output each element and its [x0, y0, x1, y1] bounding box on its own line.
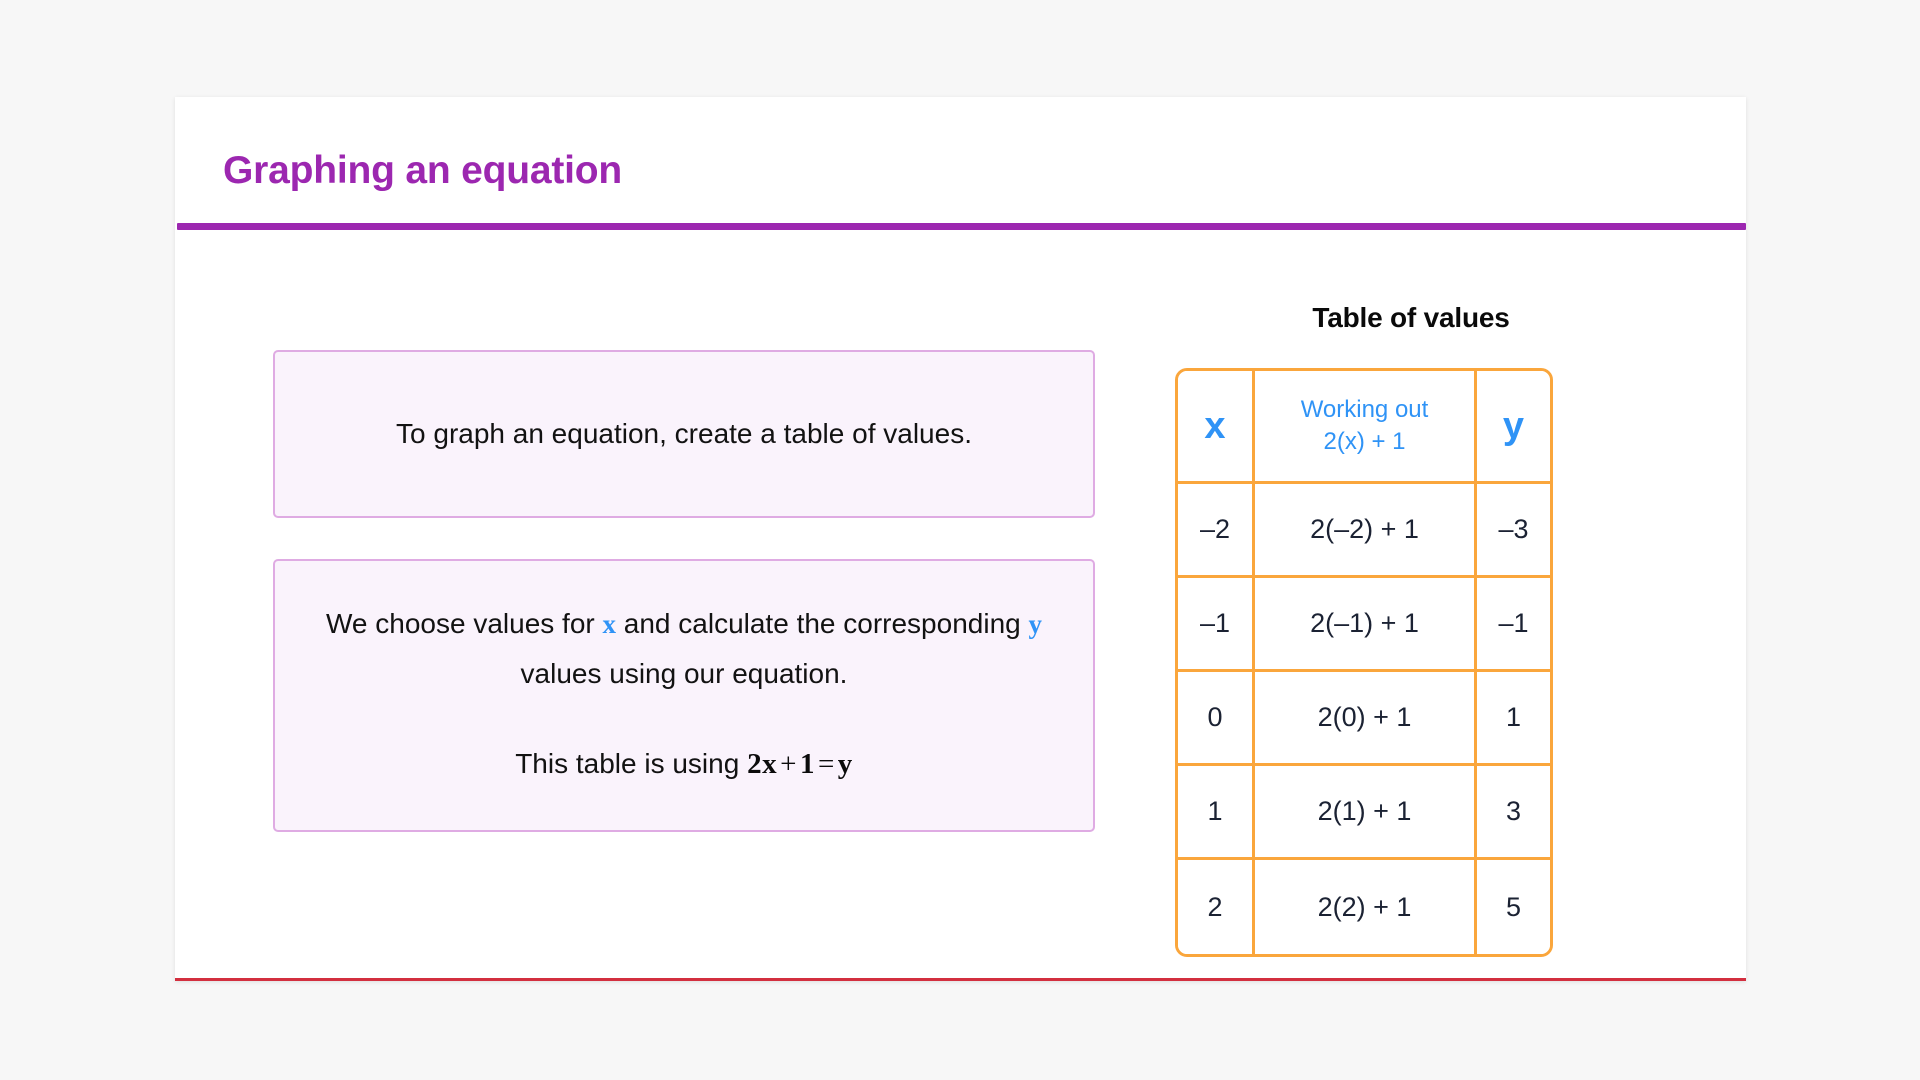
- info-box-method-text: We choose values for x and calculate the…: [301, 599, 1067, 699]
- cell-working: 2(–1) + 1: [1255, 578, 1477, 672]
- column-header-working-label: Working out 2(x) + 1: [1257, 396, 1472, 459]
- page-title: Graphing an equation: [223, 151, 622, 190]
- values-table-body: –2 2(–2) + 1 –3 –1 2(–1) + 1 –1 0: [1178, 484, 1550, 954]
- column-header-x-label: x: [1204, 405, 1225, 447]
- equation-line: This table is using 2x+1=y: [301, 739, 1067, 791]
- equation-rhs: y: [838, 748, 853, 780]
- method-text-part2: and calculate the corresponding: [616, 608, 1029, 639]
- explanation-column: To graph an equation, create a table of …: [273, 350, 1095, 832]
- slide-body: To graph an equation, create a table of …: [175, 230, 1746, 981]
- column-header-y: y: [1477, 371, 1550, 484]
- column-header-working: Working out 2(x) + 1: [1255, 371, 1477, 484]
- column-header-x: x: [1178, 371, 1255, 484]
- cell-y: –1: [1477, 578, 1550, 672]
- cell-x: 0: [1178, 672, 1255, 766]
- cell-x: 2: [1178, 860, 1255, 954]
- slide-header: Graphing an equation: [175, 97, 1746, 230]
- equation-expression: 2x+1=y: [747, 748, 853, 780]
- table-row: 2 2(2) + 1 5: [1178, 860, 1550, 954]
- table-row: 0 2(0) + 1 1: [1178, 672, 1550, 766]
- equation-constant: 1: [800, 748, 815, 780]
- table-heading: Table of values: [1177, 302, 1645, 334]
- info-box-intro: To graph an equation, create a table of …: [273, 350, 1095, 518]
- table-row: 1 2(1) + 1 3: [1178, 766, 1550, 860]
- cell-working: 2(–2) + 1: [1255, 484, 1477, 578]
- title-divider: [177, 223, 1746, 230]
- cell-y: –3: [1477, 484, 1550, 578]
- equation-equals-operator: =: [815, 748, 838, 780]
- info-box-intro-text: To graph an equation, create a table of …: [396, 409, 972, 459]
- column-header-y-label: y: [1503, 405, 1524, 447]
- method-text-part3: values using our equation.: [521, 658, 848, 689]
- table-row: –2 2(–2) + 1 –3: [1178, 484, 1550, 578]
- equation-plus-operator: +: [777, 748, 800, 780]
- cell-y: 5: [1477, 860, 1550, 954]
- footer-divider: [175, 978, 1746, 981]
- table-row: –1 2(–1) + 1 –1: [1178, 578, 1550, 672]
- equation-lhs: 2x: [747, 748, 777, 780]
- column-header-working-formula: 2(x) + 1: [1257, 426, 1472, 458]
- info-box-method: We choose values for x and calculate the…: [273, 559, 1095, 832]
- method-text-part1: We choose values for: [326, 608, 603, 639]
- table-header-row: x Working out 2(x) + 1 y: [1178, 371, 1550, 484]
- equation-prefix: This table is using: [515, 748, 747, 779]
- cell-y: 1: [1477, 672, 1550, 766]
- slide-card: Graphing an equation To graph an equatio…: [175, 97, 1746, 981]
- values-table-head: x Working out 2(x) + 1 y: [1178, 371, 1550, 484]
- cell-working: 2(2) + 1: [1255, 860, 1477, 954]
- table-column: Table of values x: [1175, 230, 1645, 957]
- column-header-working-title: Working out: [1301, 396, 1429, 423]
- values-table: x Working out 2(x) + 1 y: [1175, 368, 1553, 957]
- cell-x: –1: [1178, 578, 1255, 672]
- variable-y-inline: y: [1029, 609, 1043, 639]
- cell-x: –2: [1178, 484, 1255, 578]
- cell-y: 3: [1477, 766, 1550, 860]
- cell-x: 1: [1178, 766, 1255, 860]
- values-table-wrapper: x Working out 2(x) + 1 y: [1175, 368, 1547, 957]
- cell-working: 2(1) + 1: [1255, 766, 1477, 860]
- cell-working: 2(0) + 1: [1255, 672, 1477, 766]
- slide-page: Graphing an equation To graph an equatio…: [0, 0, 1920, 1080]
- variable-x-inline: x: [603, 609, 617, 639]
